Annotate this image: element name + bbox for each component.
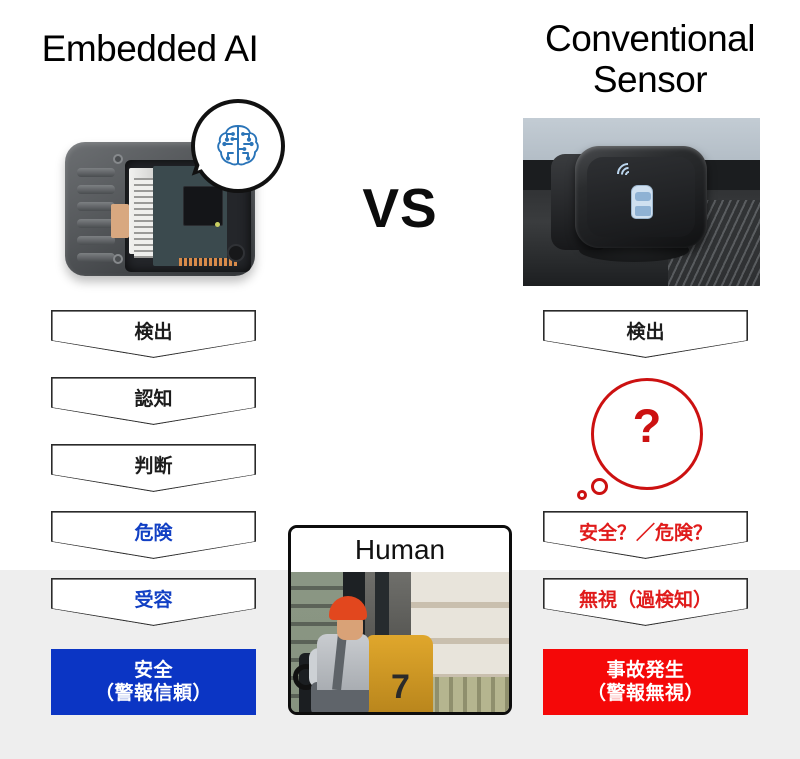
human-panel-label: Human	[291, 528, 509, 572]
step-label: 危険	[134, 518, 172, 545]
outcome-line-1: 事故発生	[606, 659, 684, 682]
versus-label: VS	[330, 176, 470, 240]
left-flow-step-1[interactable]: 検出	[51, 310, 256, 358]
outcome-line-1: 安全	[134, 659, 173, 682]
conventional-sensor-photo	[523, 118, 760, 286]
outcome-line-2: （警報信頼）	[95, 682, 212, 705]
step-label: 安全？／危険？	[579, 518, 712, 545]
left-column-title: Embedded AI	[0, 28, 300, 69]
step-label: 受容	[134, 585, 172, 612]
right-flow-step-2[interactable]: 安全？／危険？	[543, 511, 748, 559]
left-flow-step-4[interactable]: 危険	[51, 511, 256, 559]
step-label: 判断	[134, 451, 172, 478]
right-column-title: Conventional Sensor	[500, 18, 800, 101]
forklift-number: 7	[391, 668, 410, 707]
car-radar-icon	[587, 157, 695, 237]
brain-circuit-icon	[213, 120, 263, 170]
thought-bubble-dot-large	[591, 478, 608, 495]
outcome-line-2: （警報無視）	[587, 682, 704, 705]
question-mark-icon: ?	[591, 402, 703, 449]
right-flow-step-1[interactable]: 検出	[543, 310, 748, 358]
left-outcome-box[interactable]: 安全 （警報信頼）	[51, 649, 256, 715]
ai-brain-callout	[191, 99, 285, 193]
step-label: 検出	[626, 317, 664, 344]
left-flow-step-2[interactable]: 認知	[51, 377, 256, 425]
right-outcome-box[interactable]: 事故発生 （警報無視）	[543, 649, 748, 715]
step-label: 無視（過検知）	[579, 585, 712, 612]
step-label: 検出	[134, 317, 172, 344]
uncertainty-thought-bubble: ?	[575, 378, 720, 508]
thought-bubble-dot-small	[577, 490, 587, 500]
human-panel: Human 7	[288, 525, 512, 715]
forklift-operator-photo: 7	[291, 572, 509, 715]
slide-canvas: Embedded AI Conventional Sensor VS	[0, 0, 800, 759]
left-flow-step-3[interactable]: 判断	[51, 444, 256, 492]
step-label: 認知	[134, 384, 172, 411]
